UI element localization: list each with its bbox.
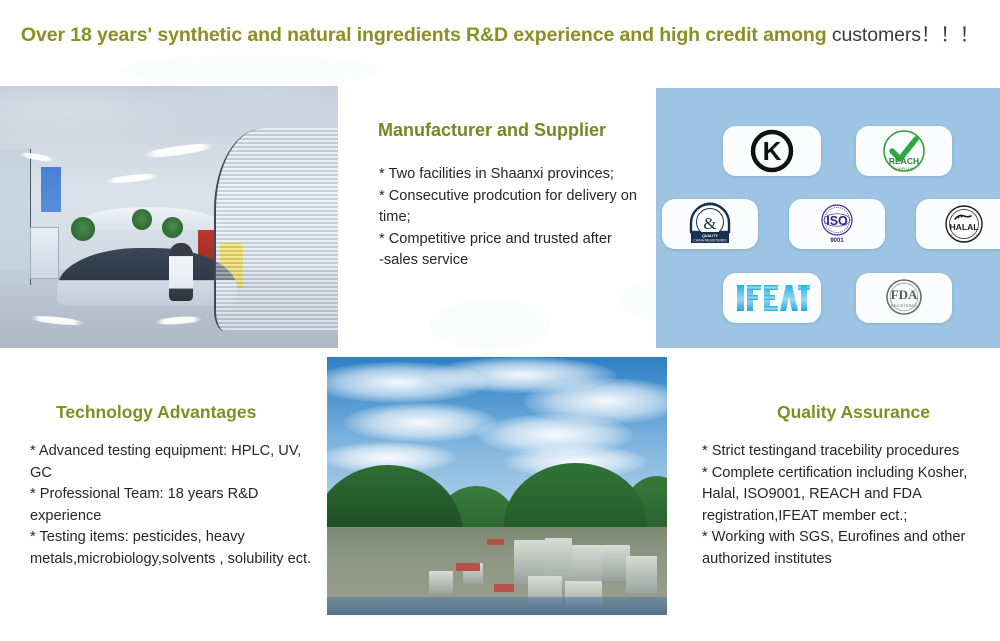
lab-plant [132,209,152,230]
certification-panel: K REACH COMPLIANT & [656,88,1000,348]
lab-plant [71,217,95,241]
background-watermark [120,55,380,85]
iso-9001-icon: ISO 9001 [814,201,860,247]
svg-text:ISO: ISO [826,214,848,228]
landscape-building [429,571,453,594]
svg-text:QUALITY: QUALITY [702,234,718,238]
halal-icon: HALAL [941,201,987,247]
svg-text:REGISTERED: REGISTERED [891,303,917,308]
manufacturer-section-title: Manufacturer and Supplier [378,120,606,141]
reach-compliant-badge[interactable]: REACH COMPLIANT [856,126,952,176]
headline-tail-text: customers！！！ [832,24,979,46]
ifeat-badge[interactable] [723,273,821,323]
lab-blue-curtain [41,167,61,212]
lab-glass-partition-right [214,128,338,332]
svg-text:&: & [703,214,716,233]
quality-section-body: * Strict testingand tracebility procedur… [702,441,994,570]
halal-badge[interactable]: HALAL [916,199,1000,249]
landscape-photo [327,357,667,615]
headline: Over 18 years' synthetic and natural ing… [0,22,1000,48]
manufacturer-section-body: * Two facilities in Shaanxi provinces; *… [379,164,647,272]
reach-check-icon: REACH COMPLIANT [881,128,927,174]
landscape-red-roof [456,563,480,571]
laboratory-photo [0,86,338,348]
svg-text:K: K [763,136,782,166]
kosher-k-badge[interactable]: K [723,126,821,176]
ifeat-icon [734,281,810,315]
quality-section-title: Quality Assurance [777,402,930,423]
lab-refrigerator [30,227,59,279]
technology-section-body: * Advanced testing equipment: HPLC, UV, … [30,441,320,570]
technology-section-title: Technology Advantages [56,402,256,423]
landscape-building [572,545,603,586]
fda-registered-badge[interactable]: FDA REGISTERED [856,273,952,323]
landscape-building [626,556,657,595]
svg-text:9001: 9001 [830,238,844,244]
iso-9001-badge[interactable]: ISO 9001 [789,199,885,249]
svg-text:HALAL: HALAL [949,222,978,232]
svg-text:COMPLIANT: COMPLIANT [894,167,916,171]
headline-main-text: Over 18 years' synthetic and natural ing… [21,24,832,46]
landscape-cloud [344,403,497,442]
svg-text:REACH: REACH [889,156,919,166]
lab-plant [162,217,182,238]
landscape-red-roof [487,539,504,545]
quality-seal-icon: & QUALITY CHINA REGISTERED [686,201,734,247]
svg-text:FDA: FDA [891,287,918,302]
kosher-k-icon: K [750,129,794,173]
lab-technician [169,243,193,301]
quality-seal-badge[interactable]: & QUALITY CHINA REGISTERED [662,199,758,249]
landscape-river [327,597,667,615]
slide-root: Over 18 years' synthetic and natural ing… [0,0,1000,641]
fda-icon: FDA REGISTERED [881,276,927,320]
lab-glass-partition-left [0,149,31,285]
background-watermark [430,300,550,350]
certification-grid: K REACH COMPLIANT & [656,88,1000,348]
svg-text:CHINA REGISTERED: CHINA REGISTERED [693,239,727,243]
landscape-red-roof [494,584,514,592]
